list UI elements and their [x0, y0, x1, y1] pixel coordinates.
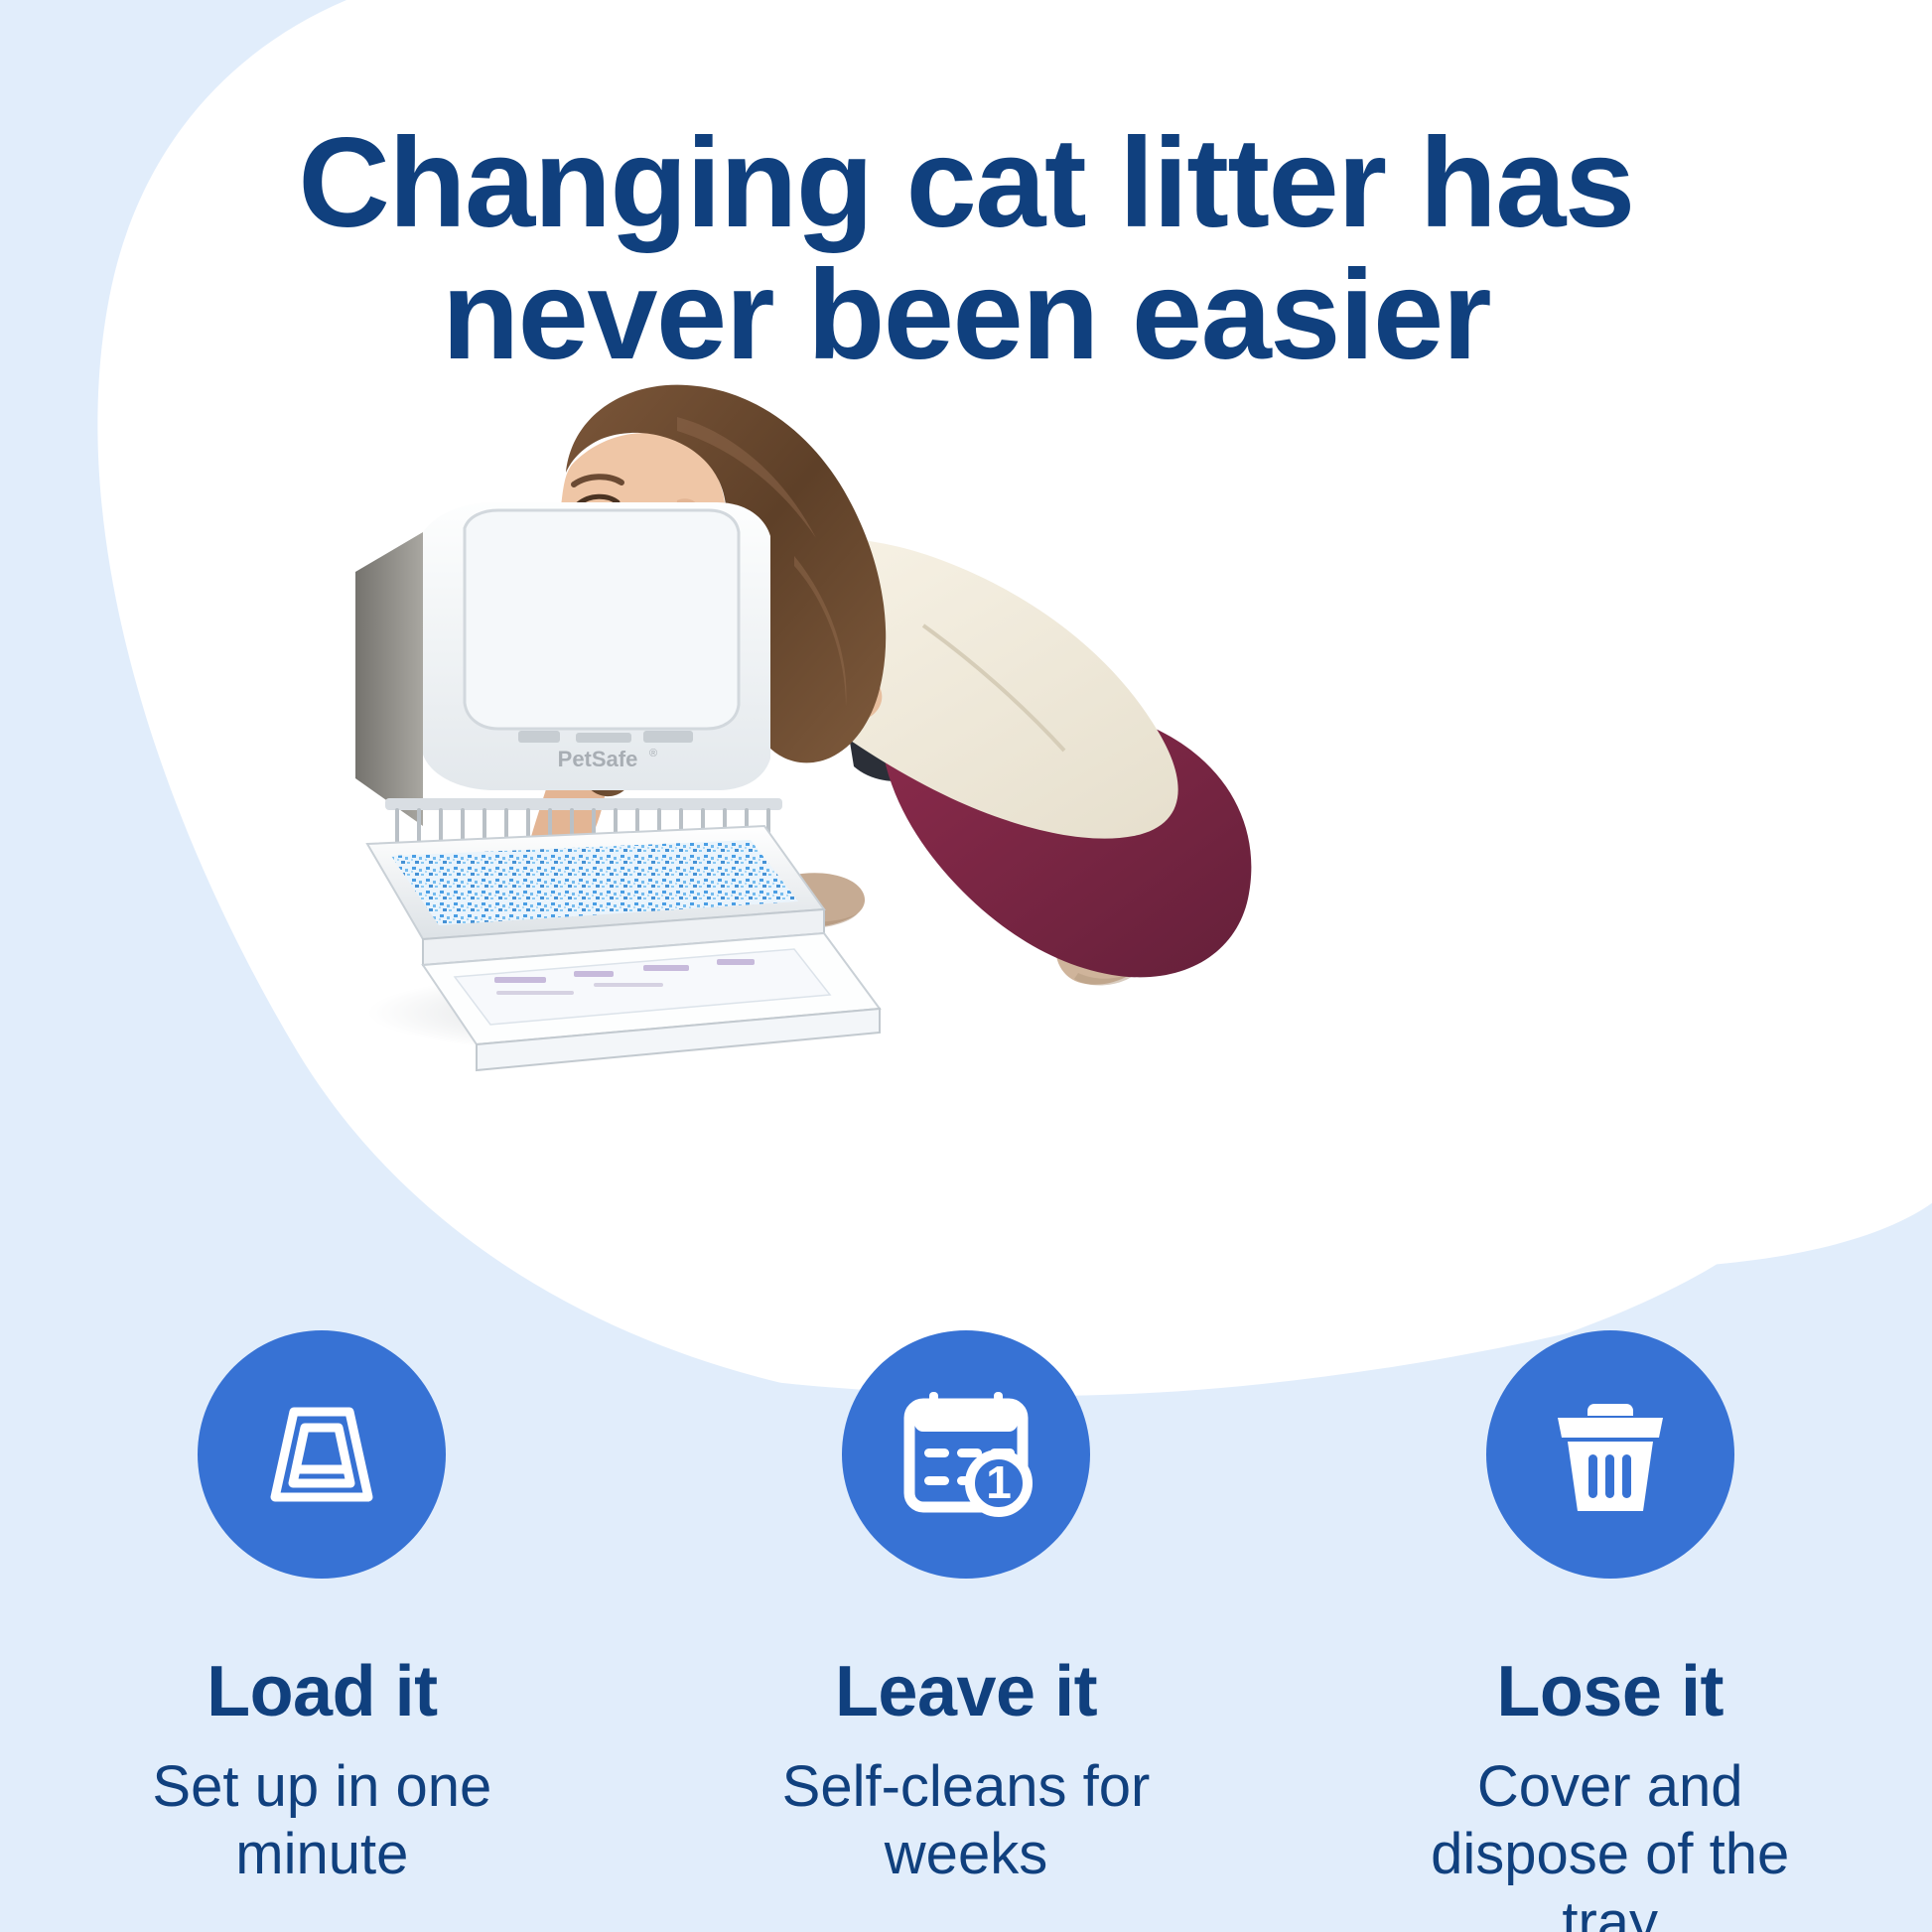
feature-title: Load it — [207, 1656, 437, 1727]
hood-lid-panel — [465, 510, 739, 729]
product-brand-label: PetSafe — [558, 747, 638, 771]
calendar-one-icon-circle[interactable]: 1 — [842, 1330, 1090, 1579]
calendar-badge-number: 1 — [986, 1456, 1012, 1508]
litter-tray-icon-circle[interactable] — [198, 1330, 446, 1579]
hero-illustration: PetSafe ® — [328, 377, 1449, 1092]
feature-leave-it: 1 Leave it Self-cleans for weeks — [644, 1330, 1289, 1932]
infographic-canvas: Changing cat litter has never been easie… — [0, 0, 1932, 1932]
hood-side-panel — [355, 532, 423, 826]
feature-load-it: Load it Set up in one minute — [0, 1330, 644, 1932]
page-headline: Changing cat litter has never been easie… — [0, 117, 1932, 381]
feature-lose-it: Lose it Cover and dispose of the tray — [1288, 1330, 1932, 1932]
feature-row: Load it Set up in one minute — [0, 1330, 1932, 1932]
feature-description: Self-cleans for weeks — [753, 1753, 1179, 1889]
litter-tray-icon — [247, 1380, 396, 1529]
feature-description: Cover and dispose of the tray — [1397, 1753, 1824, 1932]
feature-title: Lose it — [1496, 1656, 1724, 1727]
feature-title: Leave it — [835, 1656, 1097, 1727]
feature-description: Set up in one minute — [108, 1753, 535, 1889]
trash-can-icon — [1536, 1380, 1685, 1529]
headline-line-1: Changing cat litter has — [0, 117, 1932, 249]
product-brand-mark: ® — [649, 748, 657, 759]
calendar-one-icon: 1 — [892, 1380, 1040, 1529]
hero-photo: PetSafe ® — [328, 377, 1449, 1092]
trash-can-icon-circle[interactable] — [1486, 1330, 1734, 1579]
headline-line-2: never been easier — [0, 249, 1932, 381]
